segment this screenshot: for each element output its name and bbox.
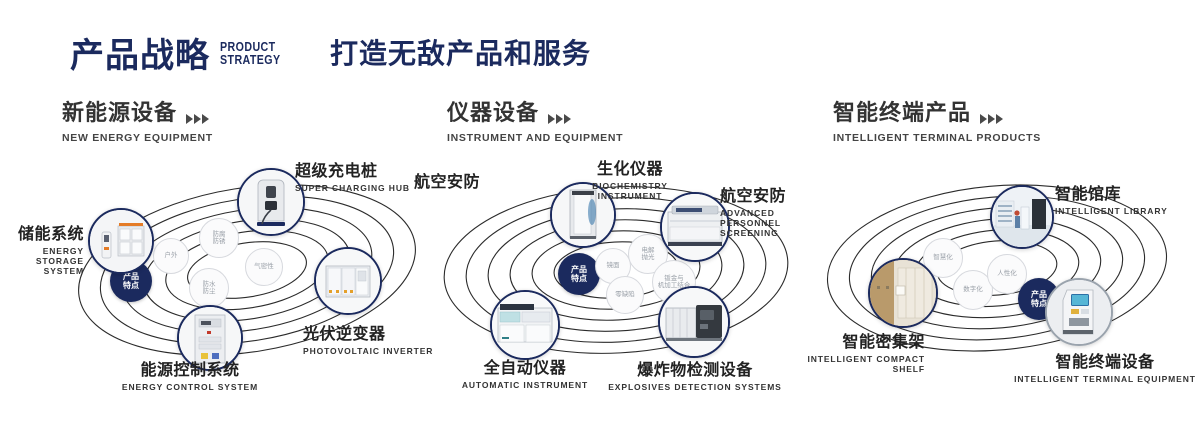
- label-aviation-security-left: 航空安防: [400, 168, 480, 192]
- label-explosives-detection: 爆炸物检测设备 EXPLOSIVES DETECTION SYSTEMS: [600, 356, 790, 392]
- node-explosives-detection[interactable]: [658, 286, 730, 358]
- infographic-page: 产品战略 PRODUCT STRATEGY 打造无敌产品和服务 新能源设备 NE…: [0, 0, 1200, 422]
- node-label-en: INTELLIGENT COMPACT SHELF: [795, 354, 925, 374]
- node-intelligent-terminal-equipment[interactable]: [1045, 278, 1113, 346]
- section-title-en: INTELLIGENT TERMINAL PRODUCTS: [833, 132, 1041, 144]
- chevron-right-icon: [980, 114, 1003, 124]
- node-photovoltaic-inverter[interactable]: [314, 247, 382, 315]
- page-title-en: PRODUCT STRATEGY: [220, 40, 281, 66]
- section-heading-intelligent: 智能终端产品 INTELLIGENT TERMINAL PRODUCTS: [833, 95, 1041, 144]
- node-label-en: EXPLOSIVES DETECTION SYSTEMS: [600, 382, 790, 392]
- energy-storage-photo: [90, 210, 152, 272]
- chevron-right-icon: [186, 114, 209, 124]
- node-label-cn: 智能终端设备: [990, 348, 1200, 372]
- node-label-en: INTELLIGENT LIBRARY: [1055, 206, 1168, 216]
- page-title-cn: 产品战略: [70, 28, 210, 77]
- section-title-cn: 新能源设备: [62, 95, 177, 127]
- terminal-equipment-photo: [1047, 280, 1111, 344]
- node-label-cn: 爆炸物检测设备: [600, 356, 790, 380]
- section-title-en: NEW ENERGY EQUIPMENT: [62, 132, 213, 144]
- label-super-charging-hub: 超级充电桩 SUPER CHARGING HUB: [295, 157, 410, 193]
- node-label-cn: 能源控制系统: [80, 356, 300, 380]
- node-label-cn: 储能系统: [0, 220, 84, 244]
- node-label-en: AUTOMATIC INSTRUMENT: [435, 380, 615, 390]
- cluster-instrument: 产品特点 镜面 电解抛光 零缺陷 钣金与机加工结合 生化仪器: [430, 160, 820, 380]
- chevron-right-icon: [548, 114, 571, 124]
- core-bubble-product-features: 产品特点: [558, 253, 600, 295]
- label-automatic-instrument: 全自动仪器 AUTOMATIC INSTRUMENT: [435, 354, 615, 390]
- node-intelligent-library[interactable]: [990, 185, 1054, 249]
- compact-shelf-photo: [870, 260, 936, 326]
- node-energy-storage-system[interactable]: [88, 208, 154, 274]
- page-header: 产品战略 PRODUCT STRATEGY: [70, 28, 294, 77]
- label-intelligent-compact-shelf: 智能密集架 INTELLIGENT COMPACT SHELF: [795, 328, 925, 374]
- label-photovoltaic-inverter: 光伏逆变器 PHOTOVOLTAIC INVERTER: [303, 320, 433, 356]
- section-title-en: INSTRUMENT AND EQUIPMENT: [447, 132, 623, 144]
- explosives-detection-photo: [660, 288, 728, 356]
- node-label-en: ADVANCED PERSONNEL SCREENING: [720, 208, 815, 238]
- feature-bubble-zero-defect: 零缺陷: [606, 276, 644, 314]
- node-label-cn: 智能馆库: [1055, 180, 1168, 204]
- node-automatic-instrument[interactable]: [490, 290, 560, 360]
- node-label-cn: 光伏逆变器: [303, 320, 433, 344]
- label-advanced-personnel-screening: 航空安防 ADVANCED PERSONNEL SCREENING: [720, 182, 815, 238]
- inverter-photo: [316, 249, 380, 313]
- node-label-en: ENERGY STORAGE SYSTEM: [0, 246, 84, 276]
- feature-bubble-waterproof: 防水防尘: [189, 268, 229, 308]
- section-heading-instrument: 仪器设备 INSTRUMENT AND EQUIPMENT: [447, 95, 623, 144]
- label-intelligent-library: 智能馆库 INTELLIGENT LIBRARY: [1055, 180, 1168, 216]
- library-photo: [992, 187, 1052, 247]
- node-label-en: INTELLIGENT TERMINAL EQUIPMENT: [990, 374, 1200, 384]
- screening-photo: [662, 194, 728, 260]
- node-label-cn: 生化仪器: [575, 155, 685, 179]
- node-label-cn: 全自动仪器: [435, 354, 615, 378]
- node-label-en: ENERGY CONTROL SYSTEM: [80, 382, 300, 392]
- cluster-intelligent: 智慧化 数字化 人性化 产品特点: [815, 160, 1200, 380]
- label-energy-control-system: 能源控制系统 ENERGY CONTROL SYSTEM: [80, 356, 300, 392]
- label-intelligent-terminal-equipment: 智能终端设备 INTELLIGENT TERMINAL EQUIPMENT: [990, 348, 1200, 384]
- page-subtitle: 打造无敌产品和服务: [330, 32, 591, 72]
- section-title-cn: 智能终端产品: [833, 95, 971, 127]
- charging-hub-photo: [239, 170, 303, 234]
- feature-bubble-anticorrosion: 防腐防锈: [199, 218, 239, 258]
- node-label-cn: 智能密集架: [795, 328, 925, 352]
- node-label-en: PHOTOVOLTAIC INVERTER: [303, 346, 433, 356]
- node-intelligent-compact-shelf[interactable]: [868, 258, 938, 328]
- node-label-cn: 航空安防: [720, 182, 815, 206]
- node-label-cn: 航空安防: [400, 168, 480, 192]
- section-title-cn: 仪器设备: [447, 95, 539, 127]
- page-title-en-line2: STRATEGY: [220, 53, 281, 66]
- node-label-en: SUPER CHARGING HUB: [295, 183, 410, 193]
- cluster-new-energy: 户外 防腐防锈 防水防尘 气密性 产品特点: [55, 160, 445, 380]
- automatic-instrument-photo: [492, 292, 558, 358]
- node-label-cn: 超级充电桩: [295, 157, 410, 181]
- feature-bubble-airtightness: 气密性: [245, 248, 283, 286]
- section-heading-new-energy: 新能源设备 NEW ENERGY EQUIPMENT: [62, 95, 213, 144]
- label-energy-storage-system: 储能系统 ENERGY STORAGE SYSTEM: [0, 220, 84, 276]
- feature-bubble-outdoor: 户外: [153, 238, 189, 274]
